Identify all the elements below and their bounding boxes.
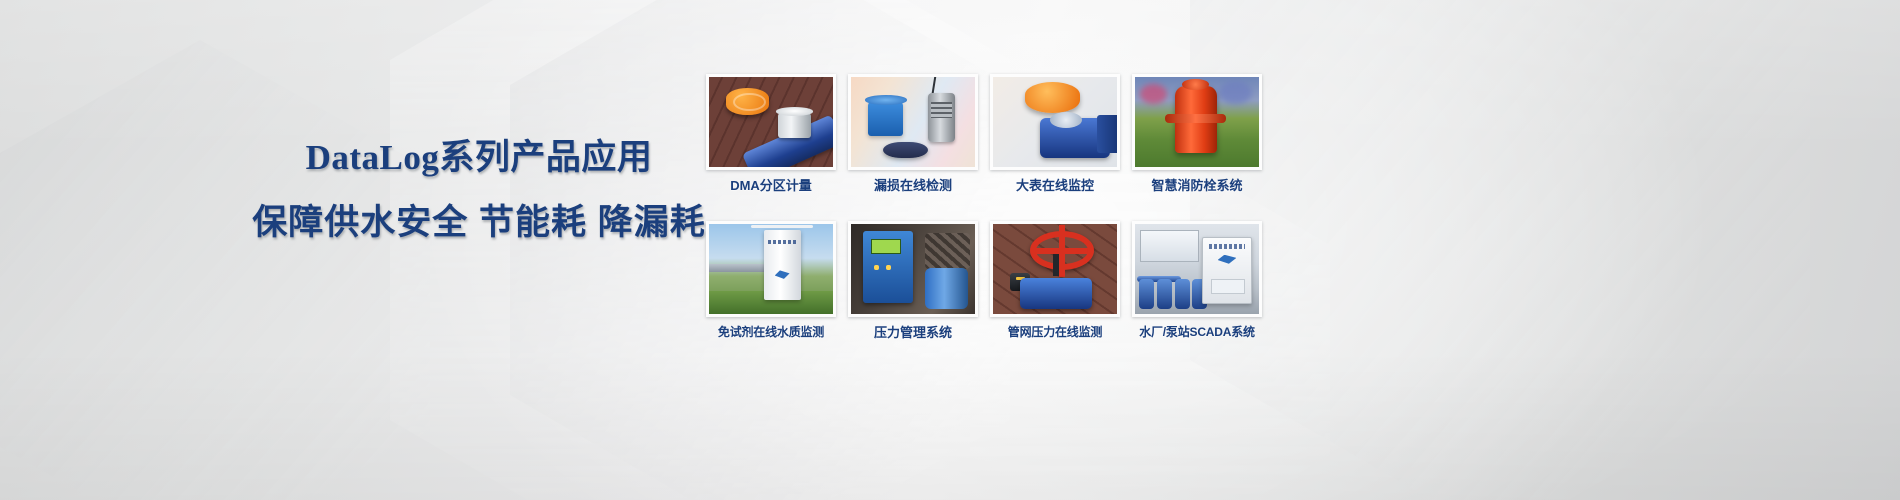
leak-online-detection-photo: [851, 77, 975, 167]
banner-stage: DataLog系列产品应用 保障供水安全 节能耗 降漏耗 DMA分区计量: [0, 0, 1900, 500]
product-application-gallery: DMA分区计量 漏损在线检测: [706, 74, 1286, 341]
pressure-management-system-photo: [851, 224, 975, 314]
tile-caption: 压力管理系统: [848, 326, 978, 340]
smart-hydrant-system-photo: [1135, 77, 1259, 167]
tile-photo-frame[interactable]: [706, 74, 836, 170]
pipe-network-pressure-photo: [993, 224, 1117, 314]
dma-zone-metering-photo: [709, 77, 833, 167]
tile-photo-frame[interactable]: [1132, 221, 1262, 317]
tile-caption: 智慧消防栓系统: [1132, 179, 1262, 193]
tile-photo-frame[interactable]: [990, 221, 1120, 317]
gallery-row-1: DMA分区计量 漏损在线检测: [706, 74, 1286, 193]
reagent-free-water-quality-photo: [709, 224, 833, 314]
tile-photo-frame[interactable]: [848, 221, 978, 317]
tile-photo-frame[interactable]: [990, 74, 1120, 170]
tile-caption: DMA分区计量: [706, 179, 836, 193]
large-meter-monitoring-photo: [993, 77, 1117, 167]
tile-caption: 水厂/泵站SCADA系统: [1132, 326, 1262, 339]
tile-caption: 免试剂在线水质监测: [706, 326, 836, 339]
gallery-row-2: 免试剂在线水质监测 压力管理系统: [706, 221, 1286, 340]
tile-photo-frame[interactable]: [1132, 74, 1262, 170]
gallery-tile[interactable]: 智慧消防栓系统: [1132, 74, 1262, 193]
tile-caption: 管网压力在线监测: [990, 326, 1120, 339]
gallery-tile[interactable]: 压力管理系统: [848, 221, 978, 340]
tile-photo-frame[interactable]: [848, 74, 978, 170]
scada-system-photo: [1135, 224, 1259, 314]
gallery-tile[interactable]: 管网压力在线监测: [990, 221, 1120, 340]
gallery-tile[interactable]: DMA分区计量: [706, 74, 836, 193]
gallery-tile[interactable]: 漏损在线检测: [848, 74, 978, 193]
headline-block: DataLog系列产品应用 保障供水安全 节能耗 降漏耗: [236, 140, 722, 240]
headline-line-2: 保障供水安全 节能耗 降漏耗: [236, 205, 722, 240]
gallery-tile[interactable]: 大表在线监控: [990, 74, 1120, 193]
tile-caption: 大表在线监控: [990, 179, 1120, 193]
tile-photo-frame[interactable]: [706, 221, 836, 317]
gallery-tile[interactable]: 免试剂在线水质监测: [706, 221, 836, 340]
gallery-tile[interactable]: 水厂/泵站SCADA系统: [1132, 221, 1262, 340]
tile-caption: 漏损在线检测: [848, 179, 978, 193]
headline-line-1: DataLog系列产品应用: [236, 140, 722, 175]
